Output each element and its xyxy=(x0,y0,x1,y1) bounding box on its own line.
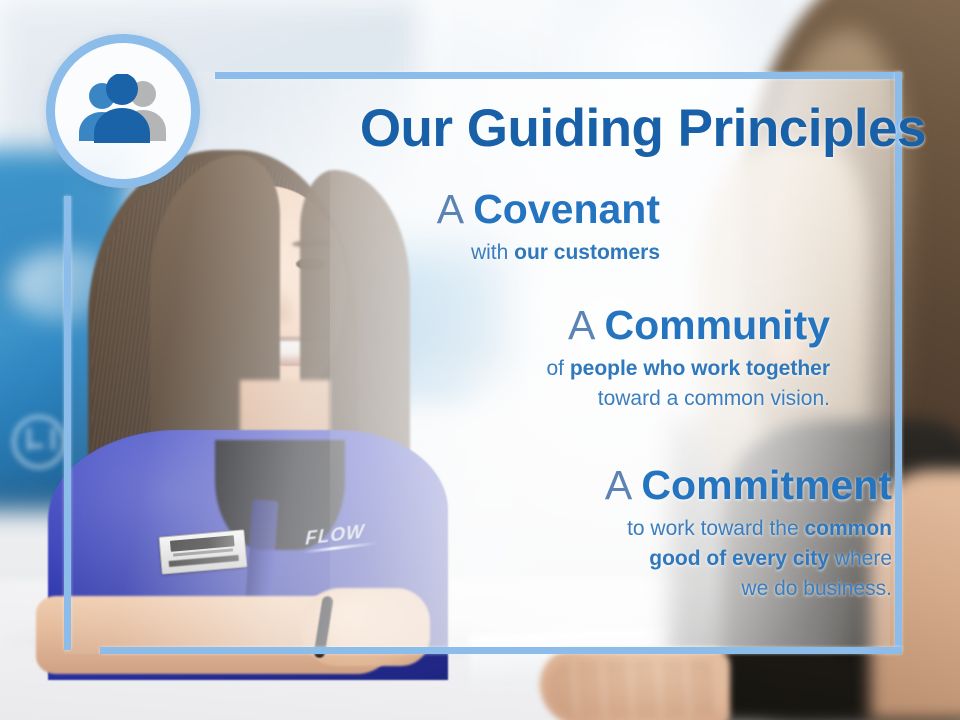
page-title: Our Guiding Principles xyxy=(0,98,926,159)
principle-community-sub-of: of xyxy=(546,357,569,380)
principle-commitment-sub-line2: good of every city where xyxy=(605,544,892,574)
principle-community-heading: A Community xyxy=(546,304,830,347)
principle-community-sub-line1: of people who work together xyxy=(546,354,830,384)
principle-commitment-lead: A xyxy=(605,462,630,508)
principle-commitment-sub-bold1: common xyxy=(804,517,892,540)
principle-commitment-word: Commitment xyxy=(641,462,892,508)
principle-commitment-sub-bold2: good of every city xyxy=(649,547,829,570)
client-fingers xyxy=(548,660,718,718)
principle-covenant: A Covenant with our customers xyxy=(437,188,660,268)
principle-commitment-sub-plain2: where xyxy=(829,547,892,570)
name-badge-name xyxy=(169,555,239,567)
principle-commitment-heading: A Commitment xyxy=(605,464,892,507)
principle-covenant-lead: A xyxy=(437,186,462,232)
principle-commitment-sub-plain1: to work toward the xyxy=(627,517,804,540)
principle-community-sub-bold: people who work together xyxy=(570,357,830,380)
principle-commitment-subtext: to work toward the common good of every … xyxy=(605,514,892,603)
vw-logo-icon xyxy=(12,415,66,469)
principle-community-subtext: of people who work together toward a com… xyxy=(546,354,830,414)
guiding-principles-graphic: FLOW xyxy=(0,0,960,720)
principle-community-sub-line2: toward a common vision. xyxy=(546,384,830,414)
principle-community: A Community of people who work together … xyxy=(546,304,830,414)
principle-community-word: Community xyxy=(605,302,831,348)
principle-commitment-sub-line1: to work toward the common xyxy=(605,514,892,544)
principle-covenant-sub-plain: with xyxy=(471,241,514,264)
principle-covenant-word: Covenant xyxy=(473,186,660,232)
employee-name-badge xyxy=(159,529,248,574)
principle-commitment-sub-line3: we do business. xyxy=(605,574,892,604)
principle-covenant-sub-bold: our customers xyxy=(514,241,660,264)
principle-commitment: A Commitment to work toward the common g… xyxy=(605,464,892,604)
principle-covenant-subtext: with our customers xyxy=(437,238,660,268)
principle-covenant-heading: A Covenant xyxy=(437,188,660,231)
principle-community-lead: A xyxy=(568,302,593,348)
